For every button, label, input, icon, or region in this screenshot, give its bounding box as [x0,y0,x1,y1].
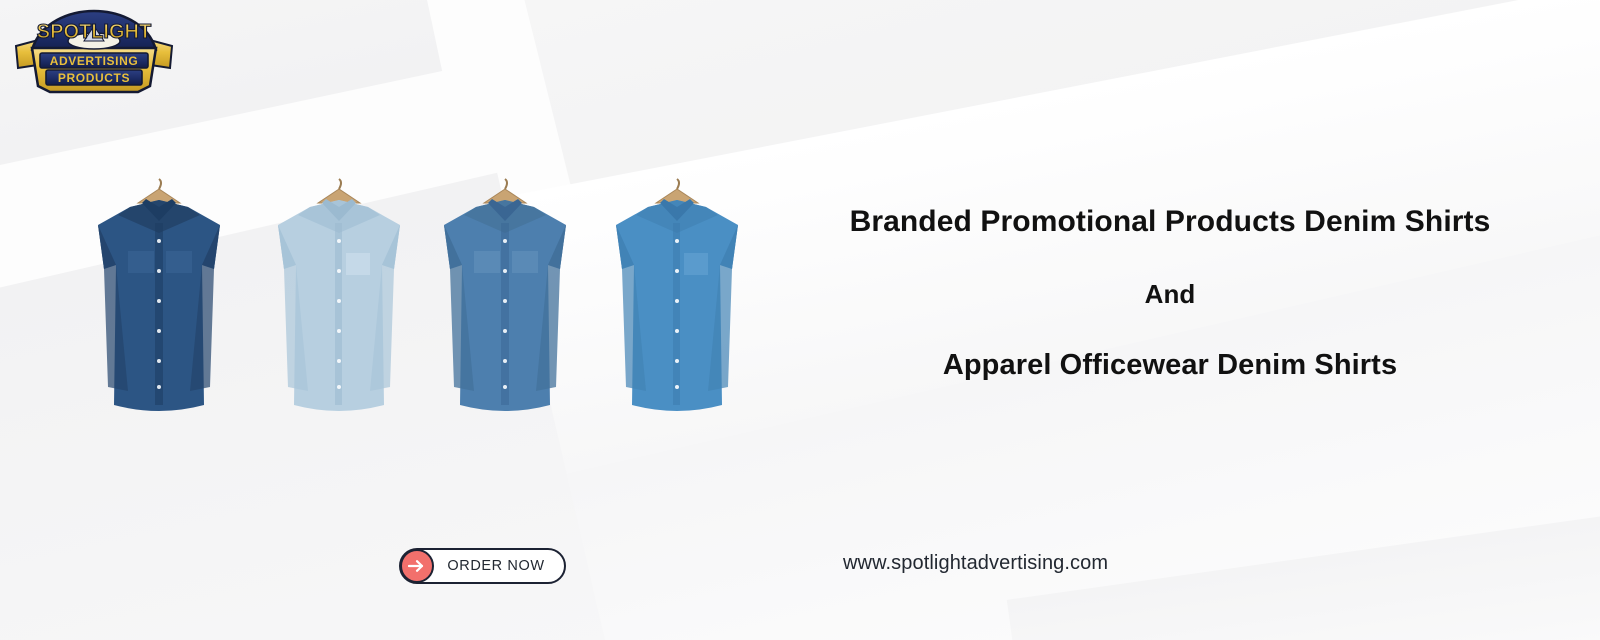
denim-shirts-on-hangers [78,165,756,435]
spotlight-advertising-products-logo[interactable]: SPOTLIGHT ADVERTISING PRODUCTS [10,6,178,94]
logo-icon: SPOTLIGHT ADVERTISING PRODUCTS [10,6,178,94]
shirt-light-blue [260,173,418,431]
hanger-icon [484,179,526,203]
order-now-label: ORDER NOW [434,558,564,574]
promotional-banner: SPOTLIGHT ADVERTISING PRODUCTS [0,0,1600,640]
shirt-dark-indigo [80,173,238,431]
headline-line-3: Apparel Officewear Denim Shirts [770,349,1570,382]
headline-block: Branded Promotional Products Denim Shirt… [770,205,1570,382]
headline-line-2: And [770,279,1570,309]
order-now-button[interactable]: ORDER NOW [399,548,566,584]
hanger-icon [138,179,180,203]
logo-text-advertising: ADVERTISING [50,54,139,68]
arrow-right-icon [400,549,434,583]
hanger-icon [318,179,360,203]
shirt-medium-blue [426,173,584,431]
website-url[interactable]: www.spotlightadvertising.com [843,552,1108,575]
hanger-icon [656,179,698,203]
logo-text-products: PRODUCTS [58,71,130,85]
headline-line-1: Branded Promotional Products Denim Shirt… [770,205,1570,239]
logo-text-spotlight: SPOTLIGHT [37,21,151,43]
shirt-bright-blue [598,173,756,431]
